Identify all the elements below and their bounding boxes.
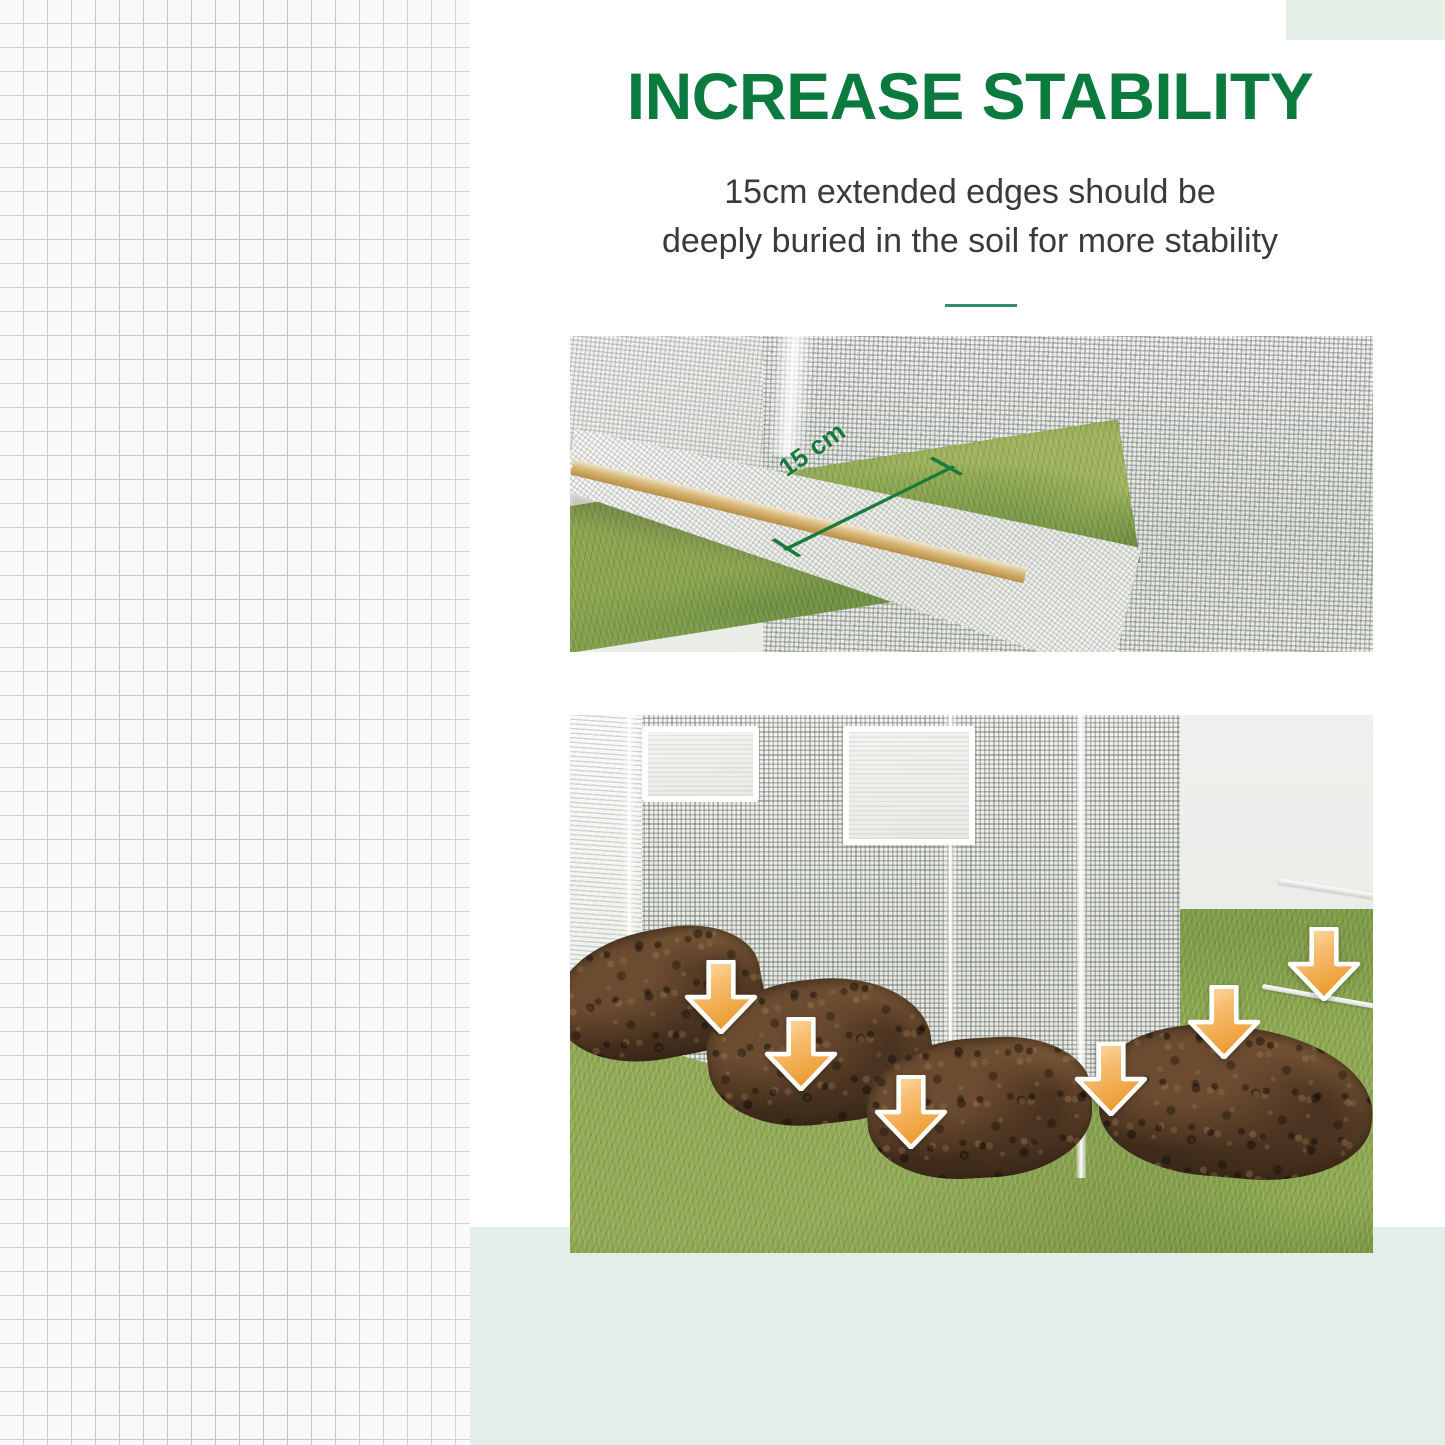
arrow-down-glyph xyxy=(872,1075,950,1149)
arrow-down-icon-1 xyxy=(682,960,760,1034)
arrow-down-icon-3 xyxy=(872,1075,950,1149)
arrow-down-glyph xyxy=(682,960,760,1034)
arrow-down-icon-4 xyxy=(1072,1042,1150,1116)
page-subtitle: 15cm extended edges should be deeply bur… xyxy=(560,168,1380,267)
subtitle-line-1: 15cm extended edges should be xyxy=(560,168,1380,217)
title-divider xyxy=(945,304,1017,307)
arrow-down-glyph xyxy=(1185,985,1263,1059)
photo-greenhouse-skirt: 15 cm xyxy=(570,336,1373,652)
page-title: INCREASE STABILITY xyxy=(560,62,1380,131)
arrow-down-glyph xyxy=(762,1017,840,1091)
arrow-down-glyph xyxy=(1072,1042,1150,1116)
arrow-down-icon-6 xyxy=(1285,927,1363,1001)
photo-buried-edge-with-soil xyxy=(570,715,1373,1253)
accent-block-top-right xyxy=(1286,0,1445,40)
mesh-window-center xyxy=(843,726,975,846)
accent-block-bottom-right xyxy=(470,1227,1445,1445)
arrow-down-glyph xyxy=(1285,927,1363,1001)
graph-paper-background xyxy=(0,0,470,1445)
mesh-window-left xyxy=(642,726,758,803)
arrow-down-icon-5 xyxy=(1185,985,1263,1059)
dimension-annotation-group: 15 cm xyxy=(771,450,964,557)
arrow-down-icon-2 xyxy=(762,1017,840,1091)
infographic-page: INCREASE STABILITY 15cm extended edges s… xyxy=(0,0,1445,1445)
subtitle-line-2: deeply buried in the soil for more stabi… xyxy=(560,217,1380,266)
